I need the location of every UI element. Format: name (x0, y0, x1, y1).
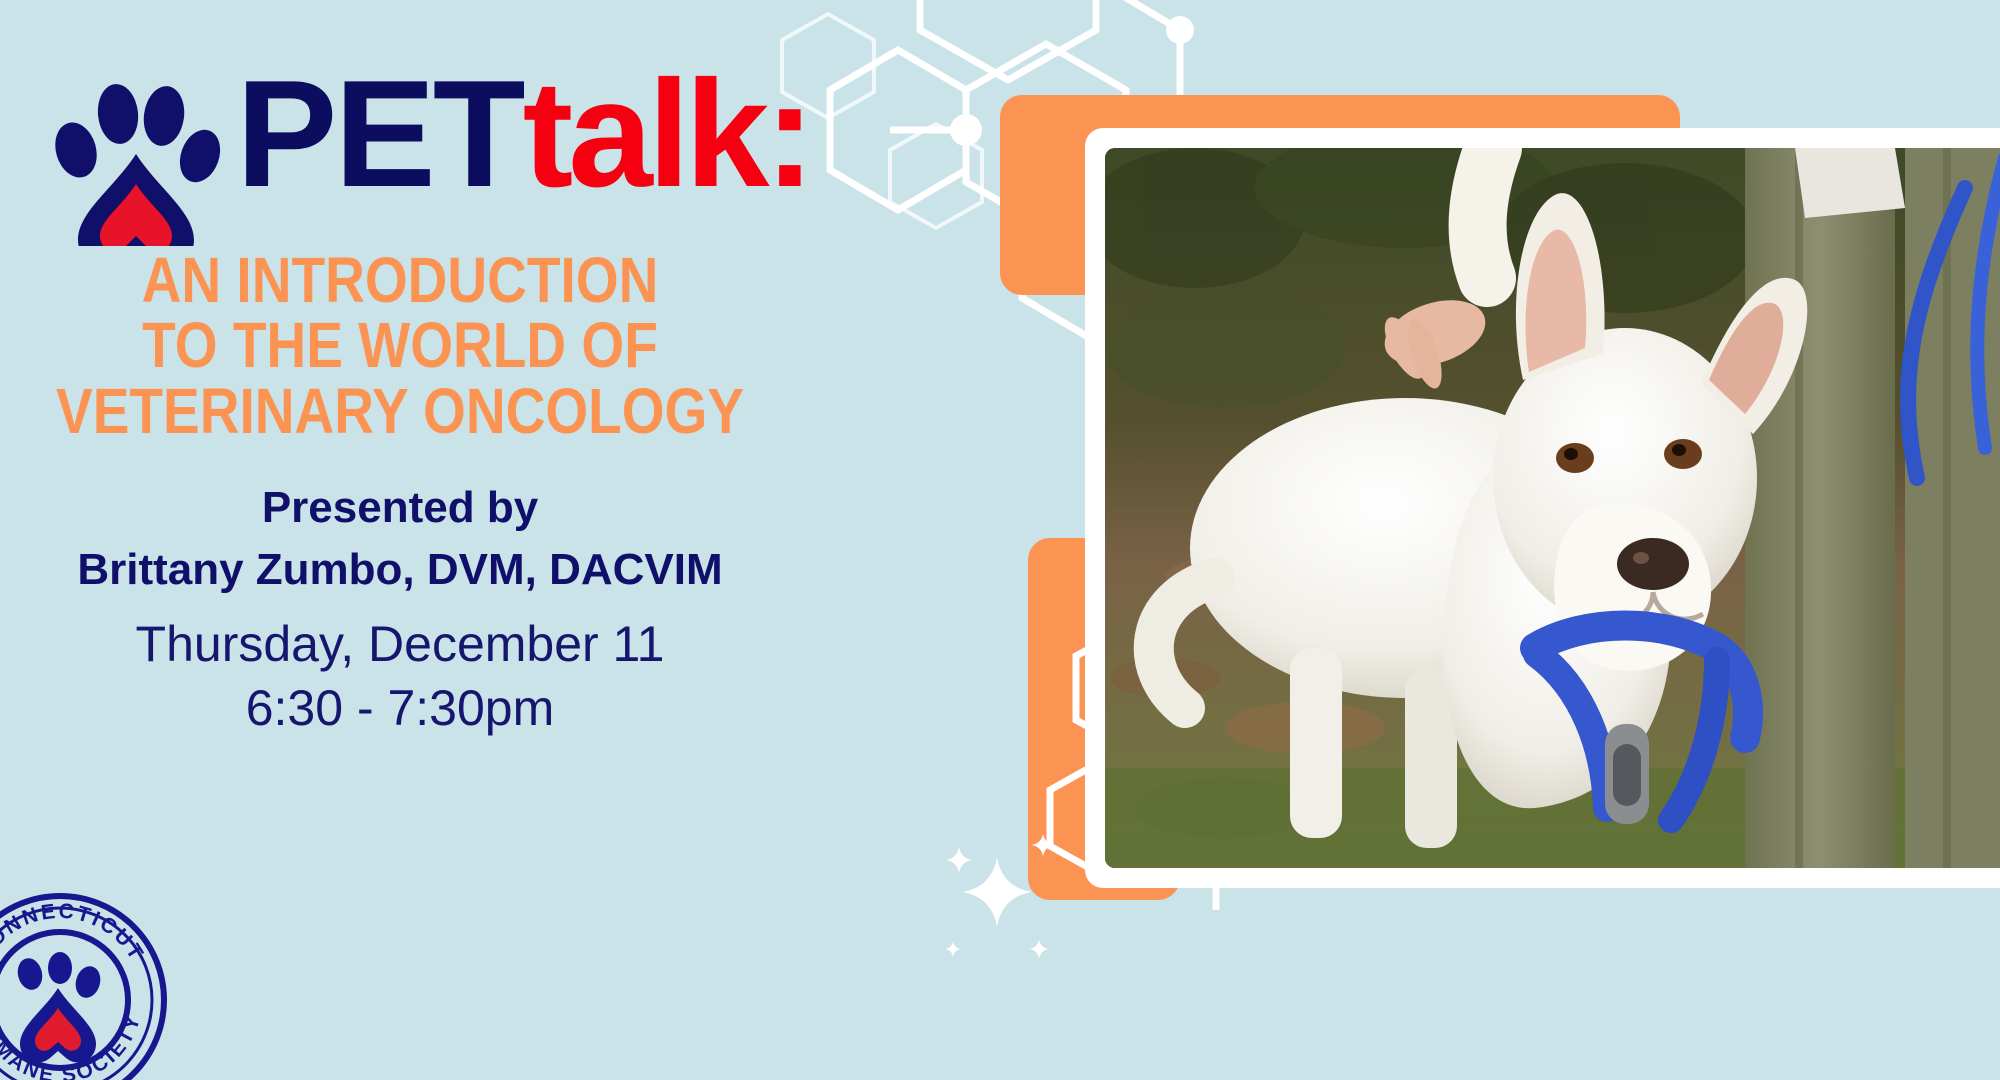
sparkle-plus-icon (1030, 832, 1056, 858)
headline-line-2: TO THE WORLD OF (56, 313, 744, 378)
wordmark-pet: PET (236, 49, 523, 219)
headline-line-1: AN INTRODUCTION (56, 248, 744, 313)
paw-print-with-heart-icon (48, 76, 224, 246)
presented-by-label: Presented by (0, 477, 800, 539)
event-date: Thursday, December 11 (0, 612, 800, 676)
sparkle-plus-icon (1028, 938, 1050, 960)
sparkle-plus-icon (944, 940, 962, 958)
presenter-name: Brittany Zumbo, DVM, DACVIM (0, 539, 800, 601)
pettalk-logo-lockup: PETtalk: (48, 58, 768, 238)
page-title: AN INTRODUCTION TO THE WORLD OF VETERINA… (56, 248, 744, 444)
event-datetime-block: Thursday, December 11 6:30 - 7:30pm (0, 612, 800, 740)
presenter-block: Presented by Brittany Zumbo, DVM, DACVIM (0, 477, 800, 602)
photo-frame (1085, 128, 2000, 888)
wordmark-talk: talk: (523, 49, 811, 219)
paw-print-with-heart-icon (14, 952, 103, 1062)
headline-line-3: VETERINARY ONCOLOGY (56, 379, 744, 444)
connecticut-humane-society-logo: CONNECTICUT HUMANE SOCIETY (0, 890, 170, 1080)
white-dog-on-leash-photo (1105, 148, 2000, 868)
sparkle-plus-icon (944, 845, 974, 875)
flyer-canvas: PETtalk: AN INTRODUCTION TO THE WORLD OF… (0, 0, 2000, 1080)
event-time: 6:30 - 7:30pm (0, 676, 800, 740)
wordmark: PETtalk: (236, 58, 810, 210)
